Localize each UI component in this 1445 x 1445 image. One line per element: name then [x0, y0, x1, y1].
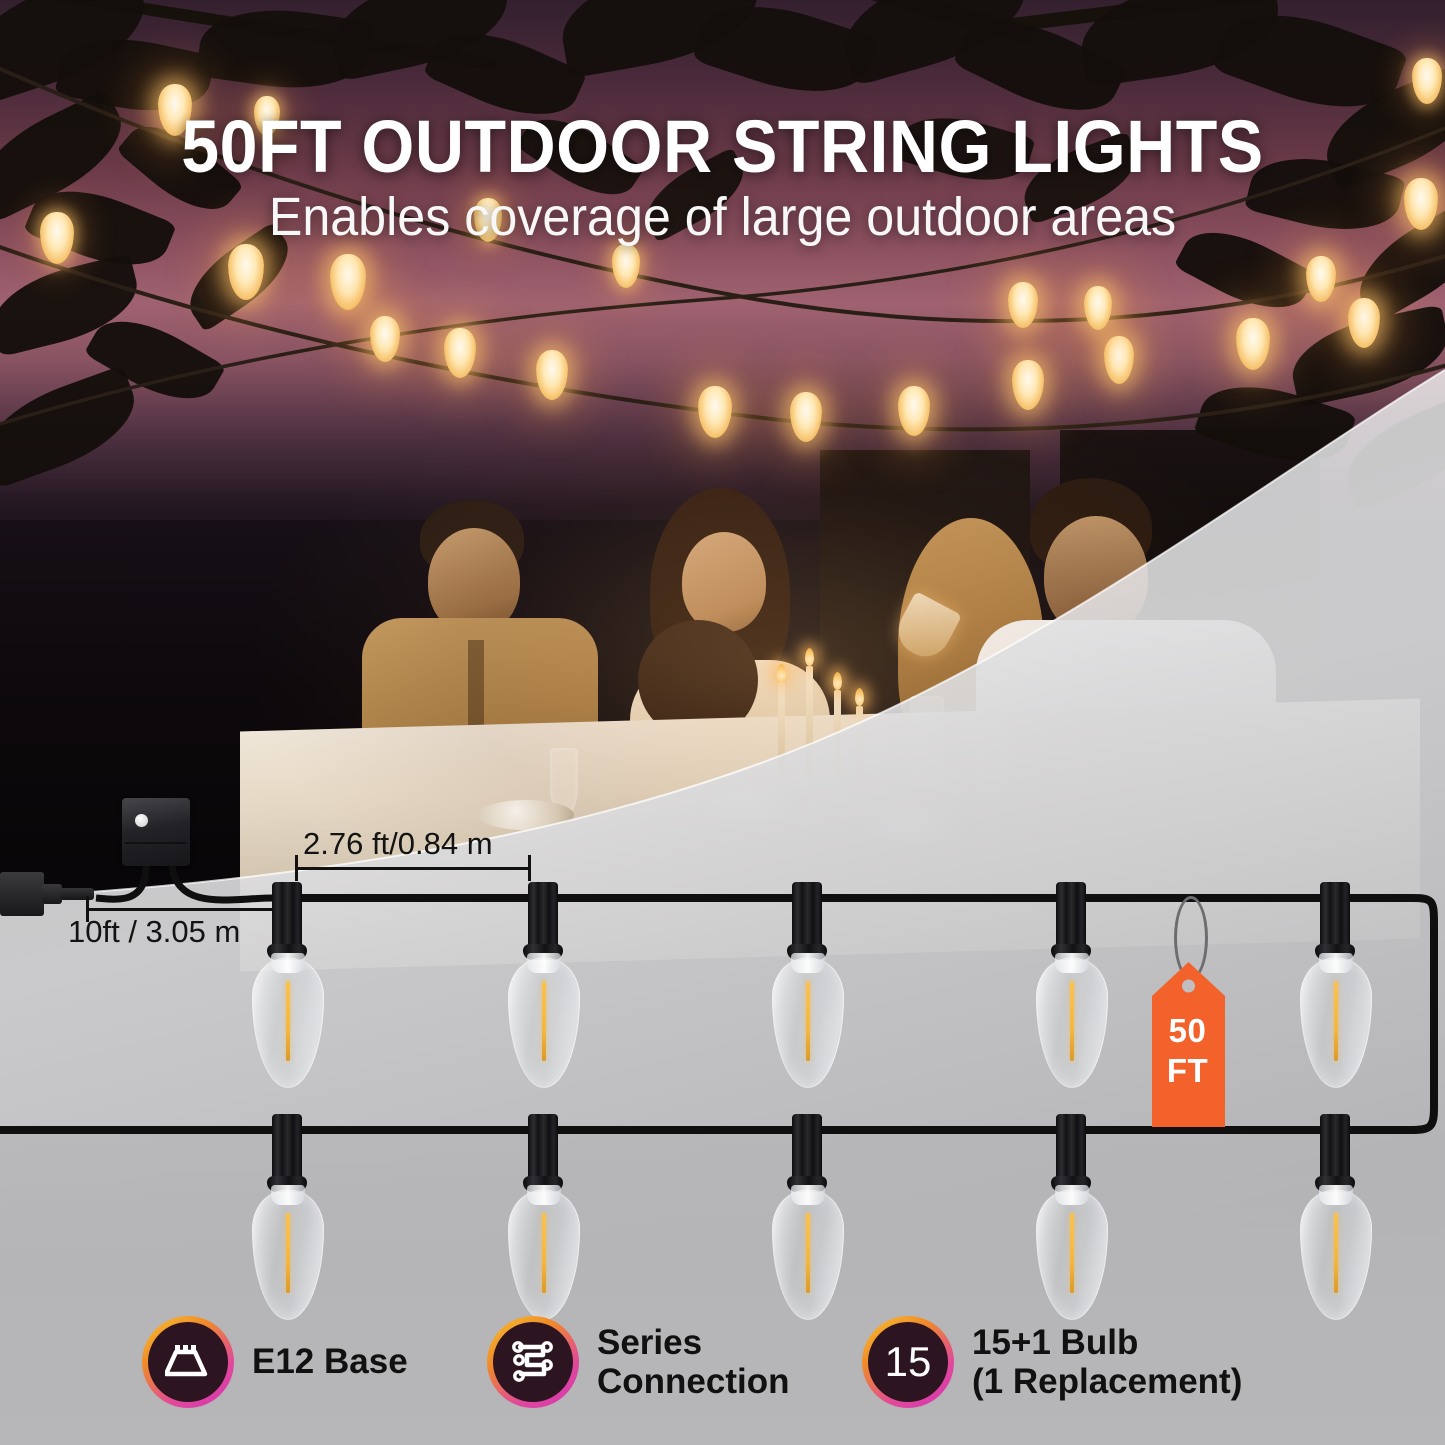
feature-bulb-count: 15 15+1 Bulb (1 Replacement)	[862, 1316, 1242, 1408]
product-diagram: 10ft / 3.05 m 2.76 ft/0.84 m	[0, 0, 1445, 1445]
spacing-dimension-tick-right	[528, 855, 531, 881]
lead-dimension-label: 10ft / 3.05 m	[68, 914, 240, 950]
feature-label-line2: Connection	[597, 1362, 789, 1401]
feature-label-block: Series Connection	[597, 1323, 789, 1401]
feature-label-line1: 15+1 Bulb	[972, 1323, 1242, 1362]
tag-value-line1: 50	[1150, 1012, 1225, 1051]
feature-label-line2: (1 Replacement)	[972, 1362, 1242, 1401]
tag-value-line2: FT	[1150, 1052, 1225, 1091]
series-connection-glyph	[509, 1338, 557, 1386]
e12-base-glyph	[165, 1344, 211, 1380]
spacing-dimension-line	[295, 867, 531, 870]
spacing-dimension-tick-left	[295, 855, 298, 881]
feature-series-connection: Series Connection	[487, 1316, 789, 1408]
feature-badges: E12 Base Series Connection	[0, 1298, 1445, 1428]
e12-base-icon	[142, 1316, 234, 1408]
product-infographic: 50FT OUTDOOR STRING LIGHTS Enables cover…	[0, 0, 1445, 1445]
feature-e12-base: E12 Base	[142, 1316, 408, 1408]
series-connection-icon	[487, 1316, 579, 1408]
bulb-count-value: 15	[885, 1338, 932, 1386]
feature-label-block: 15+1 Bulb (1 Replacement)	[972, 1323, 1242, 1401]
wire-paths	[0, 0, 1445, 1445]
feature-label-line1: Series	[597, 1323, 789, 1362]
feature-label: E12 Base	[252, 1342, 408, 1381]
lead-dimension-line	[86, 908, 282, 911]
bulb-count-icon: 15	[862, 1316, 954, 1408]
spacing-dimension-label: 2.76 ft/0.84 m	[303, 826, 493, 862]
